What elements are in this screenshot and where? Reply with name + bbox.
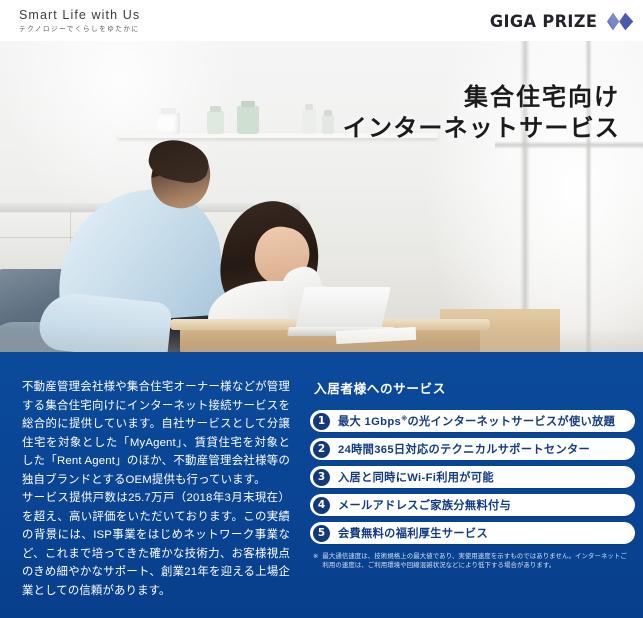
service-label: 24時間365日対応のテクニカルサポートセンター bbox=[338, 441, 590, 457]
list-item[interactable]: 4 メールアドレスご家族分無料付与 bbox=[310, 494, 635, 516]
footnote-mark: ※ bbox=[313, 552, 318, 571]
service-number-badge: 2 bbox=[313, 441, 330, 458]
list-item[interactable]: 1 最大 1Gbps※の光インターネットサービスが使い放題 bbox=[310, 410, 635, 432]
site-header: Smart Life with Us テクノロジーでくらしをゆたかに GIGA … bbox=[0, 0, 643, 41]
gigaprize-gp-mark-icon bbox=[605, 11, 635, 32]
description-paragraph-1: 不動産管理会社様や集合住宅オーナー様などが管理する集合住宅向けにインターネット接… bbox=[22, 378, 290, 489]
tagline-japanese: テクノロジーでくらしをゆたかに bbox=[19, 24, 279, 35]
list-item[interactable]: 3 入居と同時にWi-Fi利用が可能 bbox=[310, 466, 635, 488]
gigaprize-logo[interactable]: GIGA PRIZE bbox=[487, 11, 635, 32]
hero-bottom-fade bbox=[0, 328, 643, 352]
shelf-jar bbox=[322, 115, 334, 134]
service-number-badge: 1 bbox=[313, 413, 330, 430]
hero-title: 集合住宅向け インターネットサービス bbox=[343, 82, 620, 144]
hero-banner: 集合住宅向け インターネットサービス bbox=[0, 41, 643, 352]
service-label: 最大 1Gbps※の光インターネットサービスが使い放題 bbox=[338, 413, 615, 429]
laptop-screen bbox=[295, 287, 391, 329]
service-number-badge: 3 bbox=[313, 469, 330, 486]
hero-title-line1: 集合住宅向け bbox=[343, 82, 620, 113]
description-paragraph-2: サービス提供戸数は25.7万戸（2018年3月末現在）を超え、高い評価をいただい… bbox=[22, 489, 290, 600]
panel-right-column: 入居者様へのサービス 1 最大 1Gbps※の光インターネットサービスが使い放題… bbox=[301, 352, 643, 618]
shelf-jar bbox=[157, 113, 180, 134]
list-item[interactable]: 5 会費無料の福利厚生サービス bbox=[310, 522, 635, 544]
page-root: Smart Life with Us テクノロジーでくらしをゆたかに GIGA … bbox=[0, 0, 643, 618]
services-list: 1 最大 1Gbps※の光インターネットサービスが使い放題 2 24時間365日… bbox=[310, 410, 635, 544]
service-label: メールアドレスご家族分無料付与 bbox=[338, 497, 511, 513]
service-label: 入居と同時にWi-Fi利用が可能 bbox=[338, 469, 494, 485]
service-label: 会費無料の福利厚生サービス bbox=[338, 525, 488, 541]
list-item[interactable]: 2 24時間365日対応のテクニカルサポートセンター bbox=[310, 438, 635, 460]
tagline-english: Smart Life with Us bbox=[19, 8, 279, 23]
services-heading: 入居者様へのサービス bbox=[314, 378, 635, 397]
service-number-badge: 4 bbox=[313, 497, 330, 514]
brand-tagline: Smart Life with Us テクノロジーでくらしをゆたかに bbox=[19, 8, 279, 35]
panel-left-column: 不動産管理会社様や集合住宅オーナー様などが管理する集合住宅向けにインターネット接… bbox=[0, 352, 301, 618]
footnote: ※ 最大通信速度は、技術規格上の最大値であり、実使用速度を示すものではありません… bbox=[310, 552, 635, 571]
shelf-jar bbox=[207, 111, 224, 134]
shelf-jar bbox=[237, 106, 259, 134]
shelf-jar bbox=[302, 109, 316, 134]
footnote-text: 最大通信速度は、技術規格上の最大値であり、実使用速度を示すものではありません。イ… bbox=[322, 552, 627, 571]
info-panel: 不動産管理会社様や集合住宅オーナー様などが管理する集合住宅向けにインターネット接… bbox=[0, 352, 643, 618]
logo-wordmark: GIGA PRIZE bbox=[490, 12, 597, 32]
hero-title-line2: インターネットサービス bbox=[343, 113, 620, 144]
service-number-badge: 5 bbox=[313, 525, 330, 542]
